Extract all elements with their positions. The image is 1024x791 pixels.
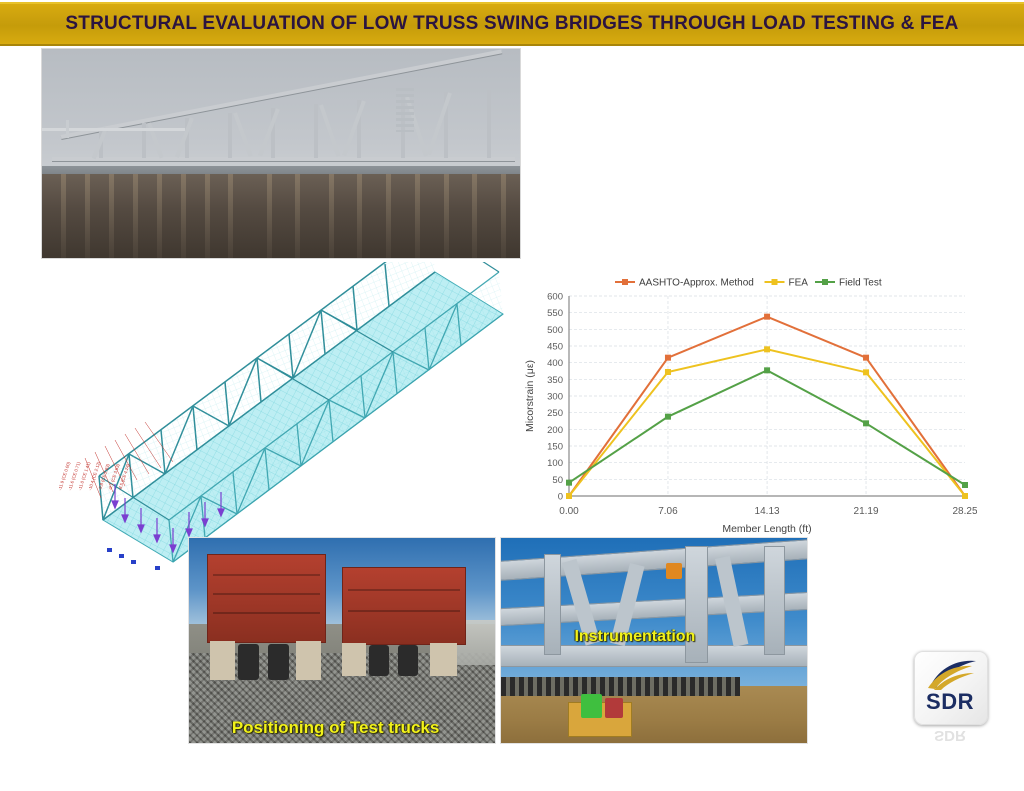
x-axis-tick-label: 21.19 — [854, 506, 879, 517]
x-axis-tick-label: 14.13 — [755, 506, 780, 517]
y-axis-tick-label: 300 — [547, 392, 563, 403]
y-axis-tick-label: 0 — [558, 492, 563, 503]
truss-structure — [42, 87, 520, 171]
truss-diagonal — [319, 104, 340, 156]
y-axis-tick-label: 500 — [547, 325, 563, 336]
y-axis-title: Micorstrain (με) — [524, 360, 536, 432]
tire — [369, 645, 389, 676]
bridge-photo — [41, 48, 521, 259]
truss-diagonal — [343, 100, 366, 156]
chart-data-point — [665, 369, 671, 375]
page-title: STRUCTURAL EVALUATION OF LOW TRUSS SWING… — [65, 13, 958, 35]
legend-marker — [772, 279, 778, 285]
timber-pilings — [42, 174, 520, 258]
legend-label: AASHTO-Approx. Method — [639, 278, 754, 289]
chart-data-point — [566, 480, 572, 486]
dump-truck-right — [342, 567, 464, 694]
fea-support-markers — [107, 548, 160, 570]
slide-title-bar: STRUCTURAL EVALUATION OF LOW TRUSS SWING… — [0, 2, 1024, 46]
chart-data-point — [566, 493, 572, 499]
mud-flap — [210, 641, 236, 680]
steel-vertical — [764, 546, 784, 655]
trucks-caption: Positioning of Test trucks — [232, 718, 439, 738]
legend-label: Field Test — [839, 278, 882, 289]
chart-data-point — [863, 420, 869, 426]
worker-red — [605, 698, 623, 719]
tire — [398, 645, 418, 676]
mud-flap — [342, 643, 366, 676]
y-axis-tick-label: 150 — [547, 442, 563, 453]
y-axis-tick-label: 400 — [547, 358, 563, 369]
y-axis-tick-label: 600 — [547, 292, 563, 303]
mud-flap — [296, 641, 322, 680]
truss-diagonal — [258, 108, 280, 156]
chart-data-point — [962, 482, 968, 488]
x-axis-tick-label: 7.06 — [658, 506, 678, 517]
chart-data-point — [863, 355, 869, 361]
truss-vertical — [487, 90, 491, 158]
logo-swoosh-icon — [924, 657, 978, 691]
y-axis-tick-label: 250 — [547, 408, 563, 419]
y-axis-tick-label: 50 — [552, 475, 563, 486]
truss-vertical — [228, 113, 232, 158]
truss-diagonal — [233, 113, 252, 158]
tire — [238, 644, 259, 680]
logo-reflection: SDR — [918, 727, 982, 744]
legend-label: FEA — [789, 278, 809, 289]
y-axis-tick-label: 350 — [547, 375, 563, 386]
truss-diagonal — [427, 93, 452, 156]
legend-marker — [822, 279, 828, 285]
chart-data-point — [962, 493, 968, 499]
y-axis-tick-label: 550 — [547, 308, 563, 319]
chart-svg: 0501001502002503003504004505005506000.00… — [517, 266, 977, 538]
test-trucks-photo: Positioning of Test trucks — [188, 537, 496, 744]
lift-tower — [396, 88, 414, 131]
y-axis-tick-label: 100 — [547, 458, 563, 469]
y-axis-tick-label: 450 — [547, 342, 563, 353]
chart-data-point — [764, 314, 770, 320]
handrail — [42, 128, 185, 131]
microstrain-chart: 0501001502002503003504004505005506000.00… — [517, 266, 977, 538]
chart-data-point — [665, 414, 671, 420]
chart-data-point — [764, 367, 770, 373]
x-axis-title: Member Length (ft) — [722, 523, 811, 535]
instrumentation-photo: Instrumentation — [500, 537, 808, 744]
worker-on-truss — [666, 563, 681, 579]
chart-data-point — [863, 369, 869, 375]
chart-data-point — [764, 346, 770, 352]
work-catwalk — [501, 677, 740, 695]
x-axis-tick-label: 28.25 — [952, 506, 977, 517]
mud-flap — [430, 643, 457, 676]
tire — [268, 644, 289, 680]
steel-vertical — [544, 554, 561, 654]
y-axis-tick-label: 200 — [547, 425, 563, 436]
logo-text: SDR — [914, 689, 986, 715]
chart-data-point — [665, 355, 671, 361]
mast-pole — [66, 120, 69, 138]
worker-green — [581, 694, 602, 719]
truss-vertical — [314, 104, 318, 158]
instrumentation-caption: Instrumentation — [574, 628, 695, 646]
x-axis-tick-label: 0.00 — [559, 506, 579, 517]
fea-annotation-group: -11.9 (CE 0.00) -11.6 (CE 0.71) -11.0 (C… — [62, 418, 172, 488]
dump-truck-left — [207, 554, 323, 693]
legend-marker — [622, 279, 628, 285]
sdr-logo: SDR SDR — [914, 651, 1006, 741]
